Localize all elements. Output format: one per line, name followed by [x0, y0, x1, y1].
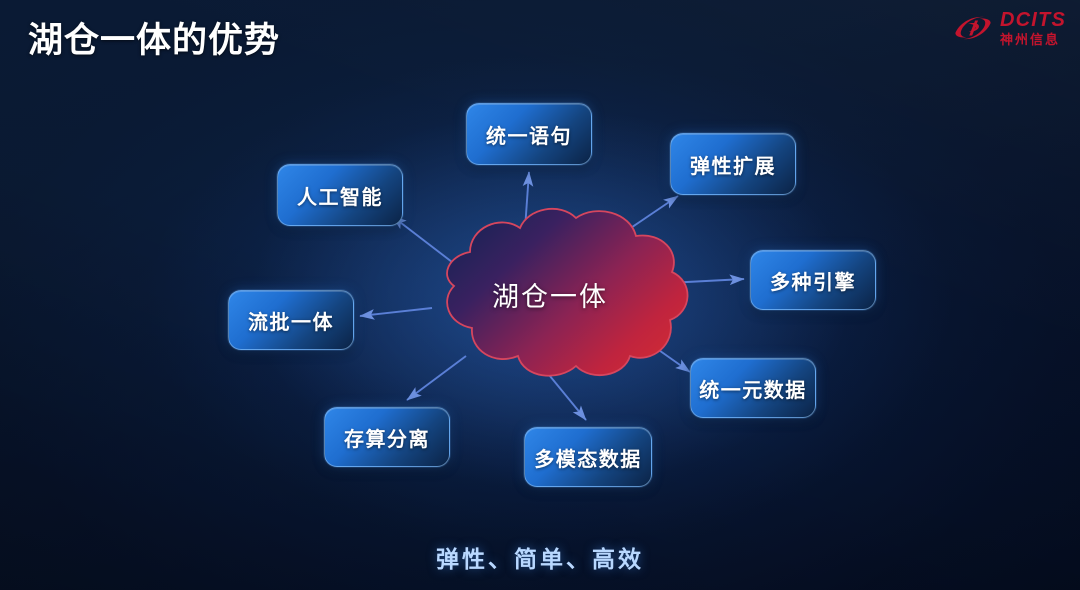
footer-caption: 弹性、简单、高效	[0, 540, 1080, 574]
node-multi-engine[interactable]: 多种引擎	[750, 250, 876, 310]
node-stream-batch[interactable]: 流批一体	[228, 290, 354, 350]
slide-canvas: 湖仓一体的优势 DCITS 神州信息	[0, 0, 1080, 590]
node-ai[interactable]: 人工智能	[277, 164, 403, 226]
node-multimodal-data[interactable]: 多模态数据	[524, 427, 652, 487]
node-unified-metadata[interactable]: 统一元数据	[690, 358, 816, 418]
node-label: 弹性扩展	[690, 150, 776, 179]
node-elastic-scaling[interactable]: 弹性扩展	[670, 133, 796, 195]
diagram-canvas	[0, 0, 1080, 590]
node-label: 多种引擎	[770, 266, 856, 295]
node-label: 统一语句	[486, 120, 572, 149]
node-label: 存算分离	[344, 423, 430, 452]
node-label: 人工智能	[297, 181, 383, 210]
node-unified-syntax[interactable]: 统一语句	[466, 103, 592, 165]
node-label: 流批一体	[248, 306, 334, 335]
node-label: 统一元数据	[699, 374, 807, 403]
node-storage-compute[interactable]: 存算分离	[324, 407, 450, 467]
node-label: 多模态数据	[534, 443, 642, 472]
